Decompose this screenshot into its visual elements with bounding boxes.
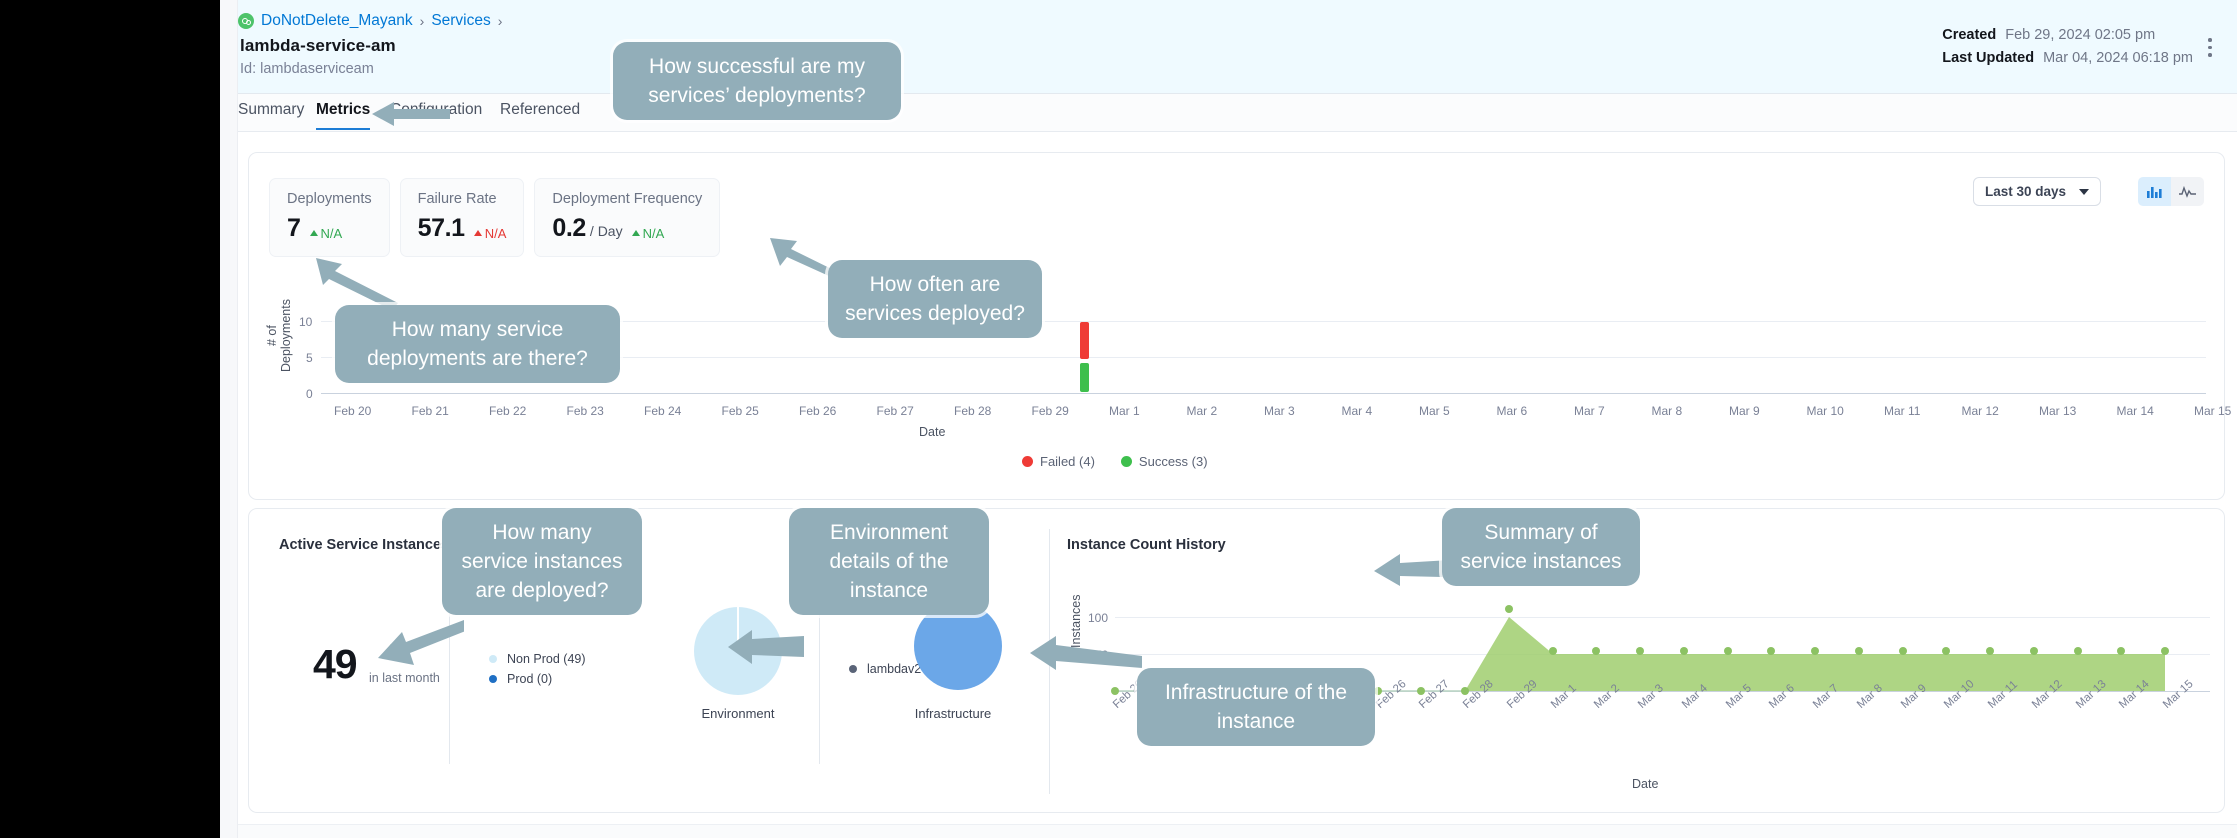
instance-history-title: Instance Count History <box>1067 537 1226 553</box>
deployments-chart-legend: Failed (4) Success (3) <box>1022 454 1208 469</box>
active-instances-subtext: in last month <box>369 671 440 685</box>
area-point <box>1111 687 1119 695</box>
callout-deployment-count: How many service deployments are there? <box>335 305 620 383</box>
callout-deployments-success: How successful are my services’ deployme… <box>613 42 901 120</box>
kpi-deployment-frequency-delta: N/A <box>632 226 665 241</box>
updated-row: Last Updated Mar 04, 2024 06:18 pm <box>1942 47 2193 70</box>
line-chart-icon[interactable] <box>2171 177 2204 206</box>
active-instances-title: Active Service Instances <box>279 537 449 553</box>
xtick-feb-26: Feb 26 <box>799 404 836 418</box>
callout-environment: Environment details of the instance <box>789 508 989 615</box>
xtick-mar-1: Mar 1 <box>1109 404 1140 418</box>
environment-legend: Non Prod (49) Prod (0) <box>489 649 586 689</box>
ytick-100: 100 <box>1088 611 1108 625</box>
xtick-mar-6: Mar 6 <box>1497 404 1528 418</box>
xtick-mar-15: Mar 15 <box>2194 404 2231 418</box>
xtick-mar-2: Mar 2 <box>1187 404 1218 418</box>
area-point <box>1680 647 1688 655</box>
area-point <box>1636 647 1644 655</box>
kpi-deployment-frequency-delta-text: N/A <box>643 226 665 241</box>
area-point <box>2161 647 2169 655</box>
breadcrumb-services-link[interactable]: Services <box>431 12 490 30</box>
area-point <box>1549 647 1557 655</box>
updated-value: Mar 04, 2024 06:18 pm <box>2043 47 2193 70</box>
area-point <box>1811 647 1819 655</box>
area-point <box>1899 647 1907 655</box>
created-row: Created Feb 29, 2024 02:05 pm <box>1942 24 2193 47</box>
area-point <box>1461 687 1469 695</box>
chart-view-toggle <box>2138 177 2204 206</box>
callout-arrow-1 <box>372 102 450 126</box>
area-point <box>1986 647 1994 655</box>
legend-failed: Failed (4) <box>1022 454 1095 469</box>
infrastructure-pie-chart[interactable] <box>914 602 1002 690</box>
xtick-mar-14: Mar 14 <box>2117 404 2154 418</box>
xtick-mar-11: Mar 11 <box>1884 404 1920 418</box>
xtick-mar-13: Mar 13 <box>2039 404 2076 418</box>
callout-arrow-5 <box>728 630 804 664</box>
divider-2 <box>819 594 820 764</box>
xtick-mar-12: Mar 12 <box>1962 404 1999 418</box>
xtick-feb-27: Feb 27 <box>877 404 914 418</box>
tab-bar: Summary Metrics Configuration Referenced <box>238 94 2237 132</box>
xtick-feb-23: Feb 23 <box>567 404 604 418</box>
area-point <box>1724 647 1732 655</box>
date-range-select[interactable]: Last 30 days <box>1973 177 2101 206</box>
kpi-deployments-delta: N/A <box>310 226 343 241</box>
callout-infrastructure: Infrastructure of the instance <box>1137 668 1375 746</box>
xtick-mar-10: Mar 10 <box>1807 404 1844 418</box>
page-header: DoNotDelete_Mayank › Services › lambda-s… <box>238 0 2237 94</box>
deployments-chart-ylabel: # of Deployments <box>265 296 293 376</box>
kpi-deployments: Deployments 7 N/A <box>269 178 390 257</box>
kpi-deployment-frequency-unit: / Day <box>590 223 623 239</box>
kpi-deployments-value: 7 <box>287 214 301 243</box>
kpi-failure-rate-label: Failure Rate <box>418 191 507 207</box>
breadcrumb-org-link[interactable]: DoNotDelete_Mayank <box>261 12 413 30</box>
breadcrumb-separator-icon-2: › <box>498 13 503 29</box>
kpi-deployment-frequency-value: 0.2 <box>552 214 586 243</box>
trend-up-icon-2 <box>474 230 482 236</box>
updated-label: Last Updated <box>1942 47 2034 70</box>
date-range-value: Last 30 days <box>1985 184 2066 199</box>
footer-bar <box>238 824 2237 838</box>
more-options-icon[interactable] <box>2201 38 2219 60</box>
instance-history-xlabel: Date <box>1632 777 1658 791</box>
xtick-feb-21: Feb 21 <box>412 404 449 418</box>
kpi-failure-rate: Failure Rate 57.1 N/A <box>400 178 525 257</box>
bar-success-feb-29 <box>1080 363 1089 392</box>
breadcrumb-separator-icon: › <box>420 13 425 29</box>
kpi-failure-rate-delta-text: N/A <box>485 226 507 241</box>
ytick-0: 0 <box>306 387 313 401</box>
kpi-failure-rate-delta: N/A <box>474 226 507 241</box>
ytick-10: 10 <box>299 315 312 329</box>
kpi-deployments-label: Deployments <box>287 191 372 207</box>
deployments-chart-xlabel: Date <box>919 425 945 439</box>
xtick-mar-4: Mar 4 <box>1342 404 1373 418</box>
trend-up-icon-3 <box>632 230 640 236</box>
active-instances-count: 49 <box>313 641 357 688</box>
created-label: Created <box>1942 24 1996 47</box>
service-badge-icon <box>238 13 254 29</box>
bar-failed-feb-29 <box>1080 322 1089 359</box>
callout-instance-summary: Summary of service instances <box>1442 508 1640 586</box>
area-point <box>1505 605 1513 613</box>
xtick-mar-7: Mar 7 <box>1574 404 1605 418</box>
left-rail <box>220 0 238 838</box>
area-point <box>2074 647 2082 655</box>
kpi-failure-rate-value: 57.1 <box>418 214 465 243</box>
kpi-deployments-delta-text: N/A <box>321 226 343 241</box>
tab-referenced[interactable]: Referenced <box>500 101 580 128</box>
kpi-row: Deployments 7 N/A Failure Rate 57.1 N/A … <box>269 178 720 257</box>
breadcrumb: DoNotDelete_Mayank › Services › <box>238 12 502 30</box>
tab-summary[interactable]: Summary <box>238 101 304 128</box>
xtick-feb-28: Feb 28 <box>954 404 991 418</box>
infrastructure-pie-label: Infrastructure <box>877 706 1029 721</box>
area-point <box>2030 647 2038 655</box>
callout-arrow-6 <box>1030 636 1142 670</box>
record-metadata: Created Feb 29, 2024 02:05 pm Last Updat… <box>1942 24 2193 70</box>
xtick-mar-9: Mar 9 <box>1729 404 1760 418</box>
xtick-mar-5: Mar 5 <box>1419 404 1450 418</box>
xtick-mar-8: Mar 8 <box>1652 404 1683 418</box>
environment-pie-label: Environment <box>662 706 814 721</box>
tab-metrics[interactable]: Metrics <box>316 101 370 130</box>
bar-chart-icon[interactable] <box>2138 177 2171 206</box>
kpi-deployment-frequency-label: Deployment Frequency <box>552 191 702 207</box>
callout-arrow-2 <box>316 258 398 310</box>
xtick-feb-29: Feb 29 <box>1032 404 1069 418</box>
xtick-mar-3: Mar 3 <box>1264 404 1295 418</box>
page-id: Id: lambdaserviceam <box>240 61 374 77</box>
kpi-deployment-frequency: Deployment Frequency 0.2 / Day N/A <box>534 178 720 257</box>
callout-arrow-4 <box>378 620 464 668</box>
environment-legend-item-prod: Prod (0) <box>489 669 586 689</box>
trend-up-icon <box>310 230 318 236</box>
ytick-5: 5 <box>306 351 313 365</box>
area-point <box>1855 647 1863 655</box>
chevron-down-icon <box>2079 189 2089 195</box>
legend-success: Success (3) <box>1121 454 1208 469</box>
xtick-feb-22: Feb 22 <box>489 404 526 418</box>
xtick-feb-25: Feb 25 <box>722 404 759 418</box>
xtick-feb-24: Feb 24 <box>644 404 681 418</box>
callout-instance-count: How many service instances are deployed? <box>442 508 642 615</box>
environment-legend-item-nonprod: Non Prod (49) <box>489 649 586 669</box>
page-title: lambda-service-am <box>240 36 396 56</box>
created-value: Feb 29, 2024 02:05 pm <box>2005 24 2155 47</box>
xtick-feb-20: Feb 20 <box>334 404 371 418</box>
callout-deployment-frequency: How often are services deployed? <box>828 260 1042 338</box>
